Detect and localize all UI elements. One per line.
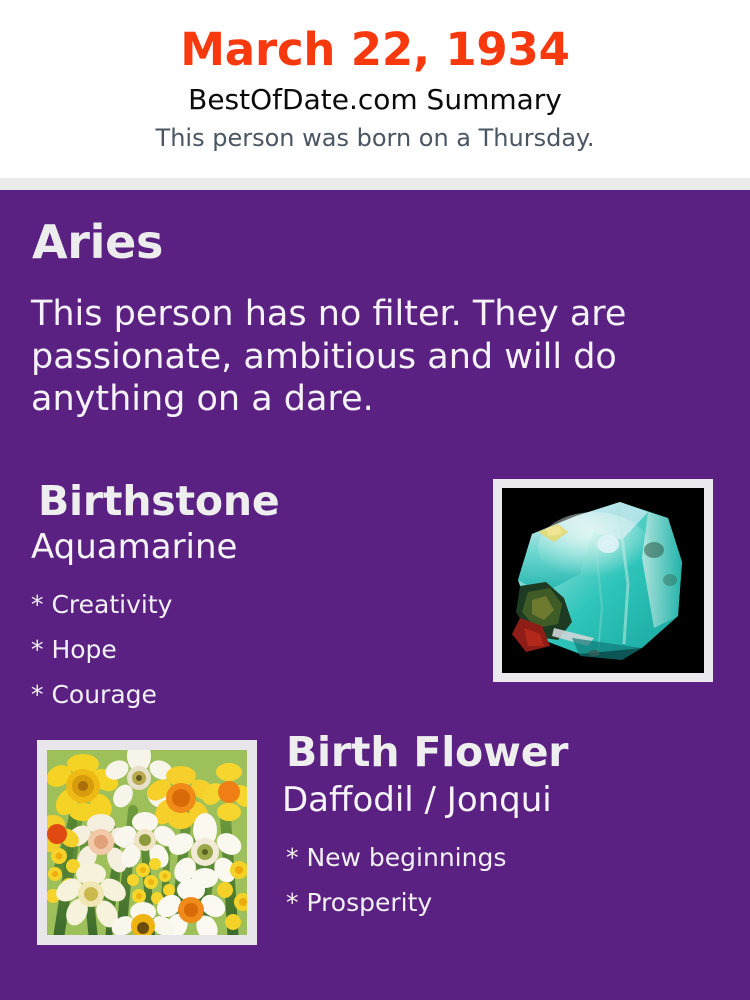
- aquamarine-crystal-icon: [502, 488, 704, 673]
- daffodil-flowers-icon: [47, 750, 247, 935]
- header-divider: [0, 178, 750, 190]
- list-item: * Creativity: [31, 582, 172, 627]
- summary-card: March 22, 1934 BestOfDate.com Summary Th…: [0, 0, 750, 1000]
- birthstone-image-frame: [493, 479, 713, 682]
- birth-day-note: This person was born on a Thursday.: [0, 114, 750, 150]
- details-panel: Aries This person has no filter. They ar…: [0, 190, 750, 1000]
- birthstone-name: Aquamarine: [31, 530, 237, 564]
- aquamarine-crystal-svg: [502, 488, 704, 673]
- birthflower-trait-list: * New beginnings * Prosperity: [286, 835, 506, 925]
- list-item: * Prosperity: [286, 880, 506, 925]
- list-item: * Hope: [31, 627, 172, 672]
- birthstone-heading: Birthstone: [38, 481, 279, 522]
- birthflower-image-frame: [37, 740, 257, 945]
- birthflower-heading: Birth Flower: [286, 732, 568, 773]
- list-item: * Courage: [31, 672, 172, 717]
- site-name: BestOfDate.com Summary: [0, 72, 750, 114]
- daffodil-flowers-svg: [47, 750, 247, 935]
- zodiac-sign-heading: Aries: [32, 219, 163, 265]
- list-item: * New beginnings: [286, 835, 506, 880]
- card-header: March 22, 1934 BestOfDate.com Summary Th…: [0, 0, 750, 178]
- zodiac-description: This person has no filter. They are pass…: [31, 293, 643, 421]
- birthstone-trait-list: * Creativity * Hope * Courage: [31, 582, 172, 717]
- page-title: March 22, 1934: [0, 0, 750, 72]
- birthflower-name: Daffodil / Jonqui: [282, 783, 552, 817]
